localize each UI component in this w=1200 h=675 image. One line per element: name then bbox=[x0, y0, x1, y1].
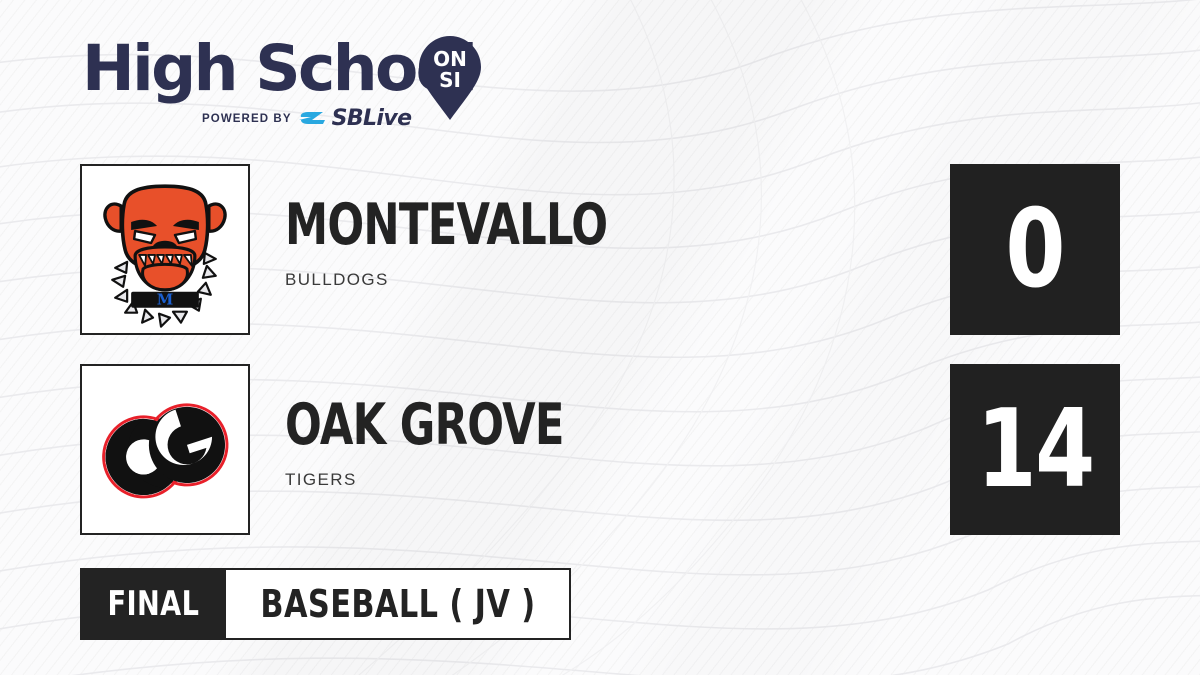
team-name: OAK GROVE bbox=[285, 396, 564, 454]
oak-grove-og-logo-icon bbox=[82, 366, 248, 533]
sblive-mark-icon bbox=[299, 111, 325, 128]
powered-by-label: POWERED BY bbox=[202, 113, 292, 125]
team-logo-box-oak-grove bbox=[80, 364, 250, 535]
sblive-wordmark: SBLive bbox=[332, 109, 412, 129]
pin-label-si: SI bbox=[439, 68, 461, 92]
status-badge: FINAL bbox=[80, 568, 226, 640]
powered-by-row: POWERED BY SBLive bbox=[202, 109, 411, 129]
svg-text:M: M bbox=[157, 291, 174, 309]
score-box-oak-grove: 14 bbox=[950, 364, 1120, 535]
team-info-montevallo: MONTEVALLO BULLDOGS bbox=[285, 196, 709, 290]
on-si-pin-icon: ON SI bbox=[414, 34, 486, 122]
team-name: MONTEVALLO bbox=[285, 196, 607, 254]
score-box-montevallo: 0 bbox=[950, 164, 1120, 335]
brand-lockup: High School ON SI POWERED BY SBLive bbox=[78, 36, 518, 136]
score-value: 0 bbox=[1006, 196, 1065, 304]
sport-label: BASEBALL ( JV ) bbox=[260, 582, 535, 626]
montevallo-bulldog-logo-icon: M bbox=[82, 166, 248, 333]
team-info-oak-grove: OAK GROVE TIGERS bbox=[285, 396, 652, 490]
sport-label-box: BASEBALL ( JV ) bbox=[226, 568, 571, 640]
team-mascot: TIGERS bbox=[285, 470, 652, 490]
team-logo-box-montevallo: M bbox=[80, 164, 250, 335]
scoreboard-graphic: High School ON SI POWERED BY SBLive bbox=[0, 0, 1200, 675]
status-label: FINAL bbox=[107, 584, 199, 624]
team-mascot: BULLDOGS bbox=[285, 270, 709, 290]
score-value: 14 bbox=[976, 396, 1093, 504]
game-status-banner: FINAL BASEBALL ( JV ) bbox=[80, 568, 571, 640]
